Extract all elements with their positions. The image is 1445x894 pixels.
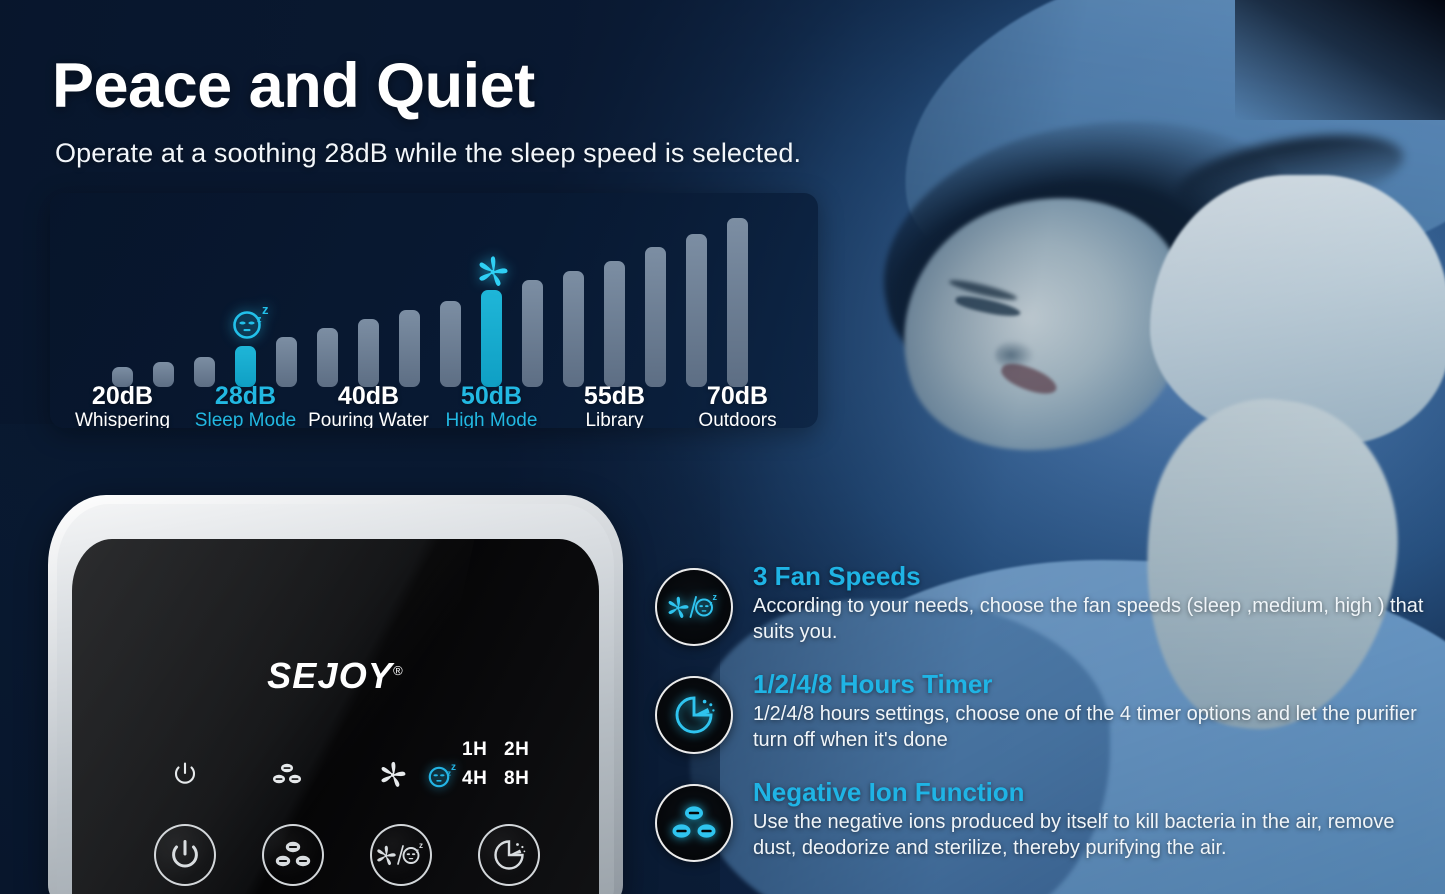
timer-option-8h: 8H [504,764,546,793]
bar [399,310,420,387]
fan-icon [473,252,513,292]
svg-text:z: z [262,302,269,317]
timer-option-1h: 1H [462,735,504,764]
feature-item: Negative Ion Function Use the negative i… [655,778,1425,878]
page-title: Peace and Quiet [52,55,535,118]
feature-item: 1/2/4/8 Hours Timer 1/2/4/8 hours settin… [655,670,1425,770]
timer-option-4h: 4H [462,764,504,793]
noise-bar-chart: z z [112,207,796,387]
brand-registered-mark: ® [393,663,404,678]
sleep-face-icon: z z [230,298,276,342]
bar [276,337,297,387]
air-purifier-device: SEJOY® [48,495,623,894]
device-control-panel: SEJOY® [72,539,599,894]
feature-title: Negative Ion Function [753,778,1425,807]
svg-text:z: z [448,771,452,778]
sleep-indicator-icon: z z [425,759,465,789]
timer-clock-icon [655,676,733,754]
bar [645,247,666,387]
control-button-row: z z [132,824,572,894]
feature-title: 1/2/4/8 Hours Timer [753,670,1425,699]
chart-label-name: Outdoors [658,409,818,428]
fan-indicator-icon [377,759,409,789]
bar [481,290,502,387]
bar [522,280,543,387]
svg-text:z: z [419,841,423,850]
bar [317,328,338,387]
svg-text:z: z [451,762,456,773]
fan-sleep-icon: z z [655,568,733,646]
brand-text: SEJOY [267,655,393,696]
svg-text:z: z [713,592,718,602]
feature-item: z z 3 Fan Speeds According to your needs… [655,562,1425,662]
power-button-icon[interactable] [154,824,216,886]
bar [727,218,748,387]
ion-indicator-icon [272,761,302,787]
feature-list: z z 3 Fan Speeds According to your needs… [655,560,1425,884]
ion-button-icon[interactable] [262,824,324,886]
bar [358,319,379,387]
indicator-row: z z 1H2H 4H8H [132,747,562,805]
svg-text:z: z [416,849,419,855]
feature-description: 1/2/4/8 hours settings, choose one of th… [753,701,1425,753]
timer-option-2h: 2H [504,735,546,764]
fan-speed-button-icon[interactable]: z z [370,824,432,886]
background-topright-shadow [1235,0,1445,120]
bar [440,301,461,387]
bar [563,271,584,387]
page-subtitle: Operate at a soothing 28dB while the sle… [55,138,801,169]
chart-axis-labels: 20dBWhispering28dBSleep Mode40dBPouring … [50,383,818,428]
bar-track [112,218,748,387]
feature-description: Use the negative ions produced by itself… [753,809,1425,861]
timer-button-icon[interactable] [478,824,540,886]
chart-label-db: 70dB [658,383,818,409]
bar [235,346,256,387]
feature-description: According to your needs, choose the fan … [753,593,1425,645]
noise-level-chart-card: z z 20dBWhispering28dBSleep Mode40dBPour… [50,193,818,428]
brand-logo: SEJOY® [72,655,599,697]
timer-option-labels: 1H2H 4H8H [462,735,546,794]
negative-ion-icon [655,784,733,862]
bar [686,234,707,387]
svg-text:z: z [257,314,262,324]
power-indicator-icon [172,761,198,787]
chart-label: 70dBOutdoors [658,383,818,428]
feature-title: 3 Fan Speeds [753,562,1425,591]
bar [604,261,625,387]
